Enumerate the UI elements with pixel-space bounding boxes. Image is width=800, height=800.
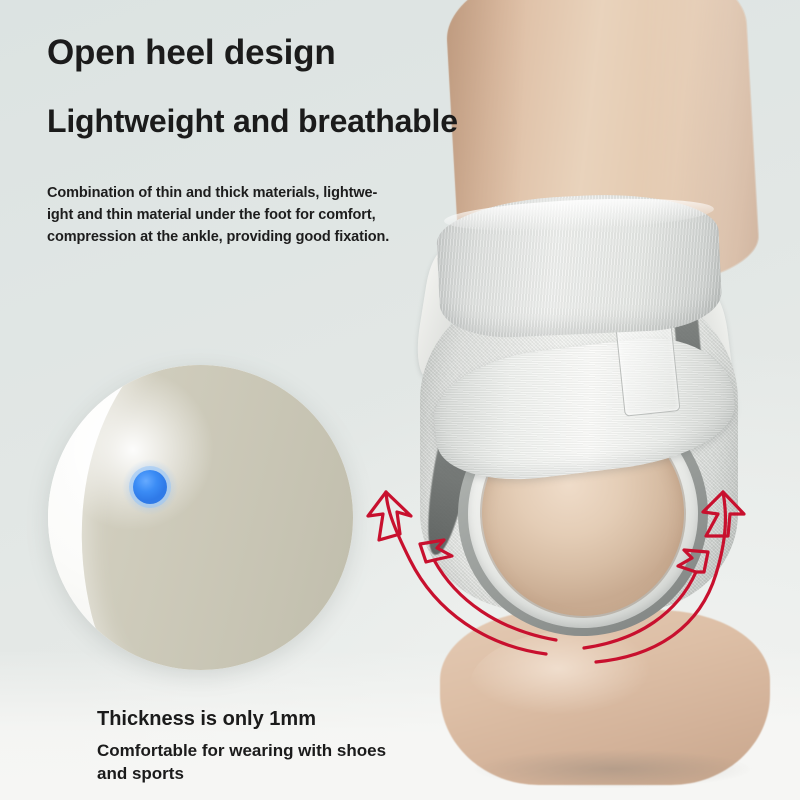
velcro-patch — [615, 321, 680, 416]
ankle-brace — [414, 196, 744, 666]
description-line-1: Combination of thin and thick materials,… — [47, 182, 407, 204]
description-line-2: ight and thin material under the foot fo… — [47, 204, 407, 226]
callout-line-2: and sports — [97, 763, 397, 786]
callout-paragraph: Comfortable for wearing with shoes and s… — [97, 740, 397, 786]
floor-shadow — [418, 742, 800, 796]
page-subtitle: Lightweight and breathable — [47, 103, 458, 140]
callout-line-1: Comfortable for wearing with shoes — [97, 740, 397, 763]
thickness-macro-inset — [48, 365, 353, 670]
thickness-marker-dot — [133, 470, 167, 504]
product-marketing-image: Open heel design Lightweight and breatha… — [0, 0, 800, 800]
callout-heading: Thickness is only 1mm — [97, 708, 316, 731]
description-line-3: compression at the ankle, providing good… — [47, 226, 407, 248]
page-title: Open heel design — [47, 33, 336, 73]
description-paragraph: Combination of thin and thick materials,… — [47, 182, 407, 248]
